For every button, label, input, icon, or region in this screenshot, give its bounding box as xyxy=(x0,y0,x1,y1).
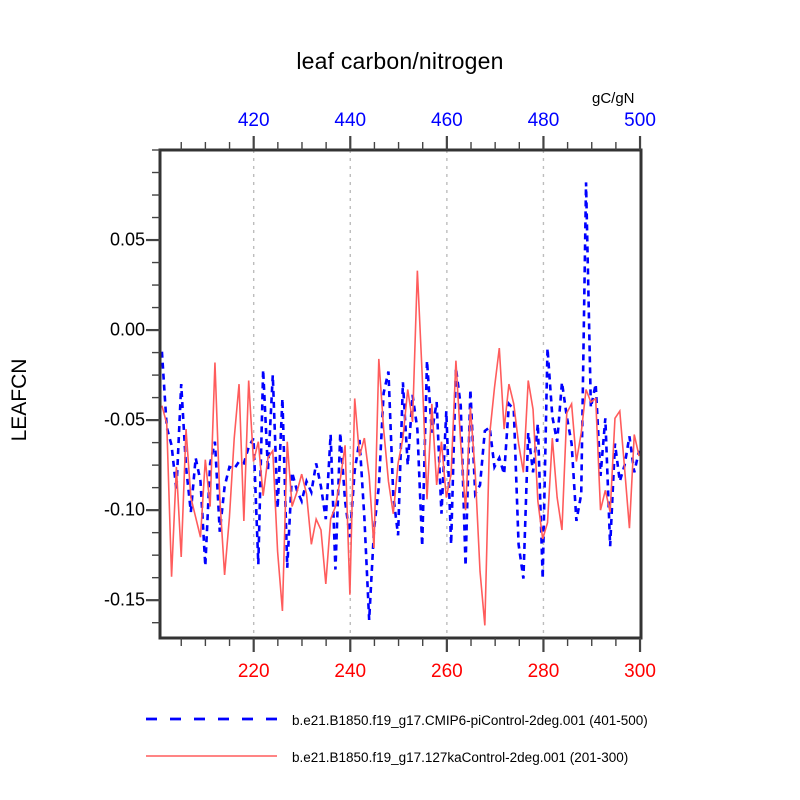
bottom-tick-label-300: 300 xyxy=(624,661,656,683)
legend-sample-lines xyxy=(146,719,277,756)
y-tick-label-neg0p10: -0.10 xyxy=(104,500,145,521)
plot-area xyxy=(0,0,800,800)
y-tick-label-0p05: 0.05 xyxy=(110,230,145,251)
top-tick-label-420: 420 xyxy=(238,110,270,132)
gridlines xyxy=(254,150,544,638)
series-layer xyxy=(162,182,639,625)
top-tick-label-480: 480 xyxy=(528,110,560,132)
bottom-tick-label-240: 240 xyxy=(334,661,366,683)
legend-label-0: b.e21.B1850.f19_g17.CMIP6-piControl-2deg… xyxy=(292,713,648,728)
bottom-tick-label-260: 260 xyxy=(431,661,463,683)
axis-frame xyxy=(160,150,641,638)
top-tick-label-460: 460 xyxy=(431,110,463,132)
y-tick-label-neg0p05: -0.05 xyxy=(104,410,145,431)
chart-canvas: leaf carbon/nitrogen gC/gN LEAFCN 420440… xyxy=(0,0,800,800)
bottom-tick-label-220: 220 xyxy=(238,661,270,683)
top-tick-label-500: 500 xyxy=(624,110,656,132)
y-tick-label-0p00: 0.00 xyxy=(110,320,145,341)
y-tick-label-neg0p15: -0.15 xyxy=(104,590,145,611)
bottom-tick-label-280: 280 xyxy=(528,661,560,683)
series-line-0 xyxy=(162,182,639,620)
axis-ticks xyxy=(146,136,640,652)
top-tick-label-440: 440 xyxy=(334,110,366,132)
legend-label-1: b.e21.B1850.f19_g17.127kaControl-2deg.00… xyxy=(292,750,628,765)
series-line-1 xyxy=(162,271,639,626)
